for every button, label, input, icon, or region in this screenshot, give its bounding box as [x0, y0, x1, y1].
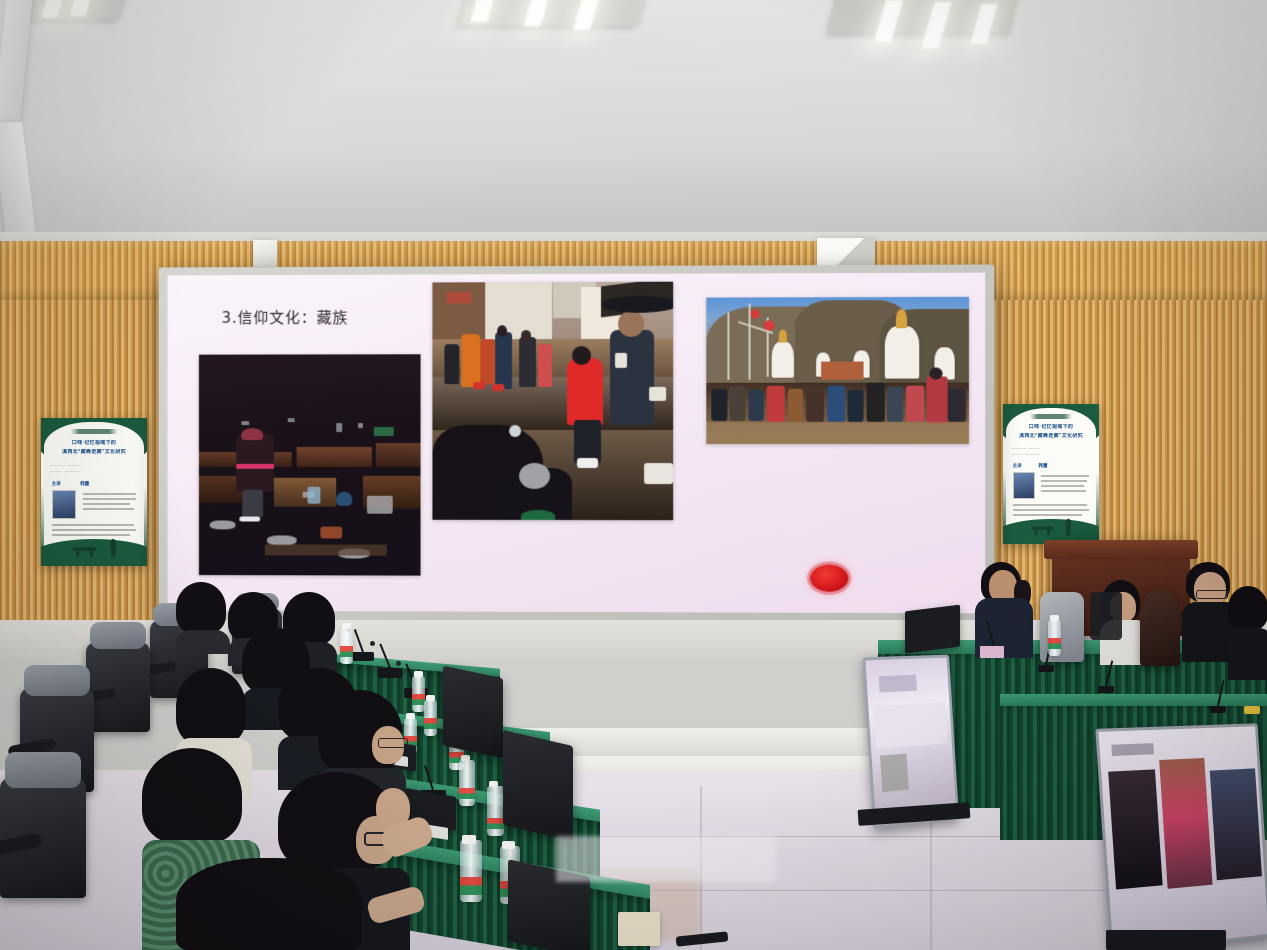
poster-title-line1-right: 口味·记忆视域下的 [1013, 424, 1090, 431]
slide-photo-courtyard [432, 282, 673, 520]
slide-photo-interior [199, 354, 421, 575]
attendee-right-3 [1228, 586, 1267, 678]
lectern-top [1044, 540, 1199, 559]
chair-left-4[interactable] [0, 778, 86, 898]
poster-text-line-l2 [83, 498, 136, 500]
water-bottle-6[interactable] [459, 760, 475, 806]
poster-speaker-name-left: 韩蕾 [80, 481, 89, 487]
microphone-audience-2[interactable] [378, 668, 402, 678]
chair-right-2[interactable] [1140, 590, 1180, 666]
poster-title-line2-right: 滇西北“藏彝走廊”文化研究 [1013, 433, 1090, 440]
microphone-right-1[interactable] [1038, 665, 1054, 672]
wall-speaker-left [253, 240, 277, 267]
poster-text-line-r2 [1041, 480, 1087, 482]
wall-speaker-right [817, 238, 875, 266]
poster-title-line1-left: 口味·记忆视域下的 [52, 440, 137, 447]
poster-speaker-photo-left [52, 490, 76, 519]
poster-text-line-l3 [83, 503, 130, 505]
poster-university-logo-right [1030, 414, 1072, 419]
poster-title-line2-left: 滇西北“藏彝走廊”文化研究 [52, 449, 137, 456]
chair-left-2[interactable] [86, 642, 150, 732]
foreground-box [618, 912, 660, 946]
water-bottle-3[interactable] [424, 700, 437, 736]
audience-person-11 [352, 776, 422, 856]
eyeglasses-audience-1 [378, 738, 408, 748]
poster-speaker-photo-right [1013, 472, 1035, 499]
ceiling-shadow [0, 150, 1267, 242]
poster-text-line-l5 [52, 524, 135, 526]
poster-text-line-r3 [1041, 485, 1083, 487]
poster-university-logo-left [71, 429, 118, 434]
poster-speaker-name-right: 韩蕾 [1039, 463, 1048, 469]
projection-screen-surface: 3.信仰文化：藏族 [167, 273, 985, 614]
audience-monitor-back-2[interactable] [503, 730, 573, 841]
monitor-stand-right [1106, 930, 1226, 950]
microphone-right-2[interactable] [1098, 686, 1114, 693]
water-bottle-10[interactable] [1048, 620, 1061, 656]
poster-speaker-label-right: 主讲 [1013, 463, 1022, 469]
floor-light-patch [556, 836, 776, 882]
lecture-hall-photograph: 口味·记忆视域下的 滇西北“藏彝走廊”文化研究 — — — — — — — — … [0, 0, 1267, 950]
poster-meta-left: — — — — — — — [51, 463, 80, 467]
nameplate-card [980, 646, 1004, 658]
poster-silhouette-right [1003, 513, 1099, 535]
audience-person-10 [176, 858, 366, 950]
poster-text-line-l6 [52, 529, 137, 531]
water-bottle-1[interactable] [340, 628, 353, 664]
yellow-object [1244, 706, 1260, 714]
audience-person-1 [176, 582, 230, 652]
water-bottle-7[interactable] [487, 786, 504, 836]
logo-placard [1090, 592, 1122, 640]
microphone-audience-1[interactable] [352, 652, 374, 661]
lecture-poster-left: 口味·记忆视域下的 滇西北“藏彝走廊”文化研究 — — — — — — — — … [41, 418, 147, 566]
microphone-right-3[interactable] [1210, 706, 1226, 713]
presenter-laptop[interactable] [905, 605, 960, 654]
chair-right-1[interactable] [1040, 592, 1084, 662]
poster-meta-right: — — — — — — — [1012, 446, 1040, 450]
lecture-poster-right: 口味·记忆视域下的 滇西北“藏彝走廊”文化研究 — — — — — — — — … [1003, 404, 1099, 544]
poster-text-line-r4 [1041, 490, 1085, 492]
poster-silhouette-left [41, 533, 147, 557]
audience-monitor-back-1[interactable] [443, 666, 503, 759]
poster-meta2-right: — — — — — — — [1012, 452, 1041, 456]
presentation-slide: 3.信仰文化：藏族 [167, 273, 985, 614]
poster-meta2-left: — — — — — — — [51, 469, 80, 473]
conference-table-top-right2 [1000, 694, 1267, 706]
eyeglasses [1196, 590, 1228, 599]
slide-photo-stupa [706, 297, 969, 444]
poster-text-line-r5 [1013, 504, 1088, 506]
presenter-at-table [975, 562, 1037, 658]
slide-title: 3.信仰文化：藏族 [222, 307, 349, 328]
poster-text-line-l4 [83, 508, 134, 510]
poster-speaker-label-left: 主讲 [52, 481, 61, 487]
poster-text-line-r1 [1041, 475, 1089, 477]
projection-screen[interactable]: 3.信仰文化：藏族 [159, 265, 995, 624]
slide-red-seal-stamp [810, 565, 848, 592]
water-bottle-8[interactable] [460, 840, 482, 902]
poster-text-line-r6 [1013, 509, 1090, 511]
poster-text-line-l1 [83, 493, 136, 495]
flat-panel-monitor-right[interactable] [1095, 723, 1267, 950]
